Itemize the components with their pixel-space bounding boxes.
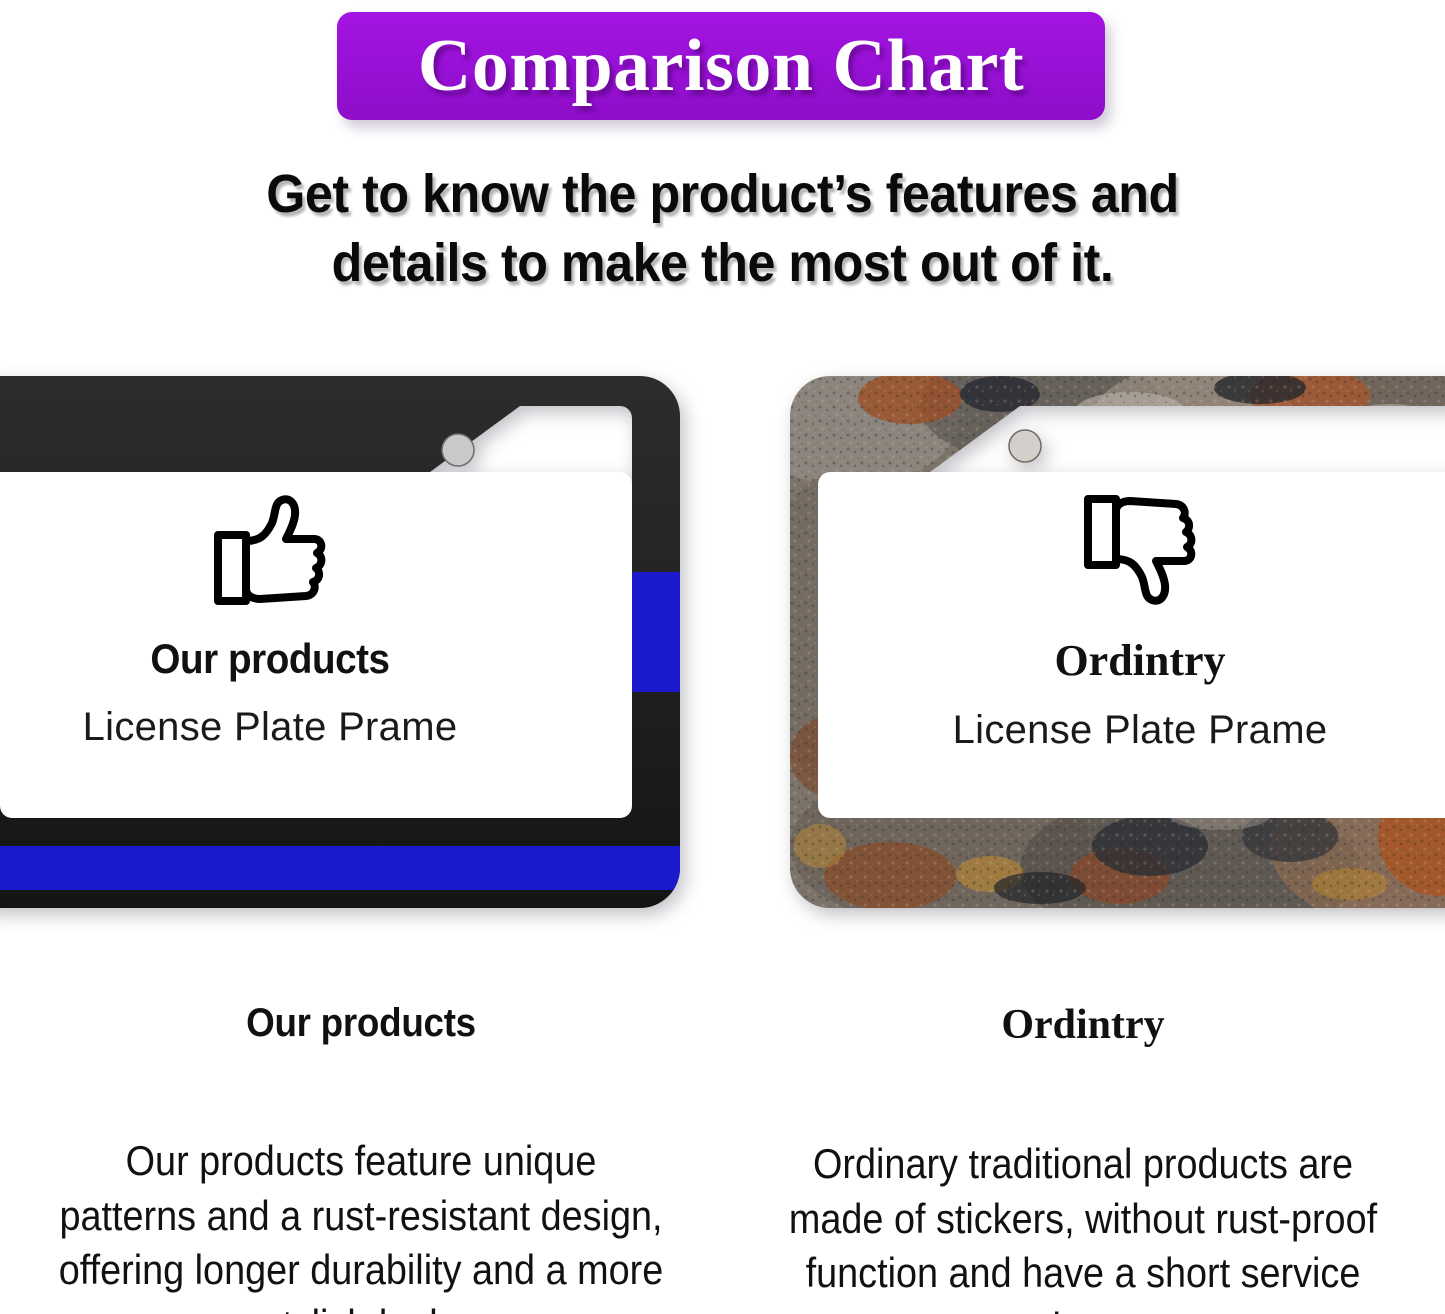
ordinary-product-frame: Ordintry License Plate Prame [790,376,1445,908]
subtitle: Get to know the product’s features and d… [51,160,1395,298]
our-product-description-column: Our products Our products feature unique… [0,985,722,1314]
our-product-heading: Our products [29,1001,693,1046]
page-title: Comparison Chart [418,29,1024,103]
ordinary-product-description-column: Ordintry Ordinary traditional products a… [722,985,1444,1314]
plate-white-panel [0,472,632,818]
subtitle-line-1: Get to know the product’s features and [51,160,1395,229]
description-columns: Our products Our products feature unique… [0,985,1445,1314]
comparison-chart-page: Comparison Chart Get to know the product… [0,0,1445,1314]
product-comparison-row: Our products License Plate Prame [0,358,1445,923]
plate-white-panel [818,472,1445,818]
title-banner: Comparison Chart [337,12,1105,120]
our-product-body: Our products feature unique patterns and… [36,1134,686,1314]
subtitle-line-2: details to make the most out of it. [51,229,1395,298]
ordinary-product-body: Ordinary traditional products are made o… [758,1137,1408,1314]
our-product-frame: Our products License Plate Prame [0,376,680,908]
ordinary-product-heading: Ordintry [722,1001,1444,1049]
